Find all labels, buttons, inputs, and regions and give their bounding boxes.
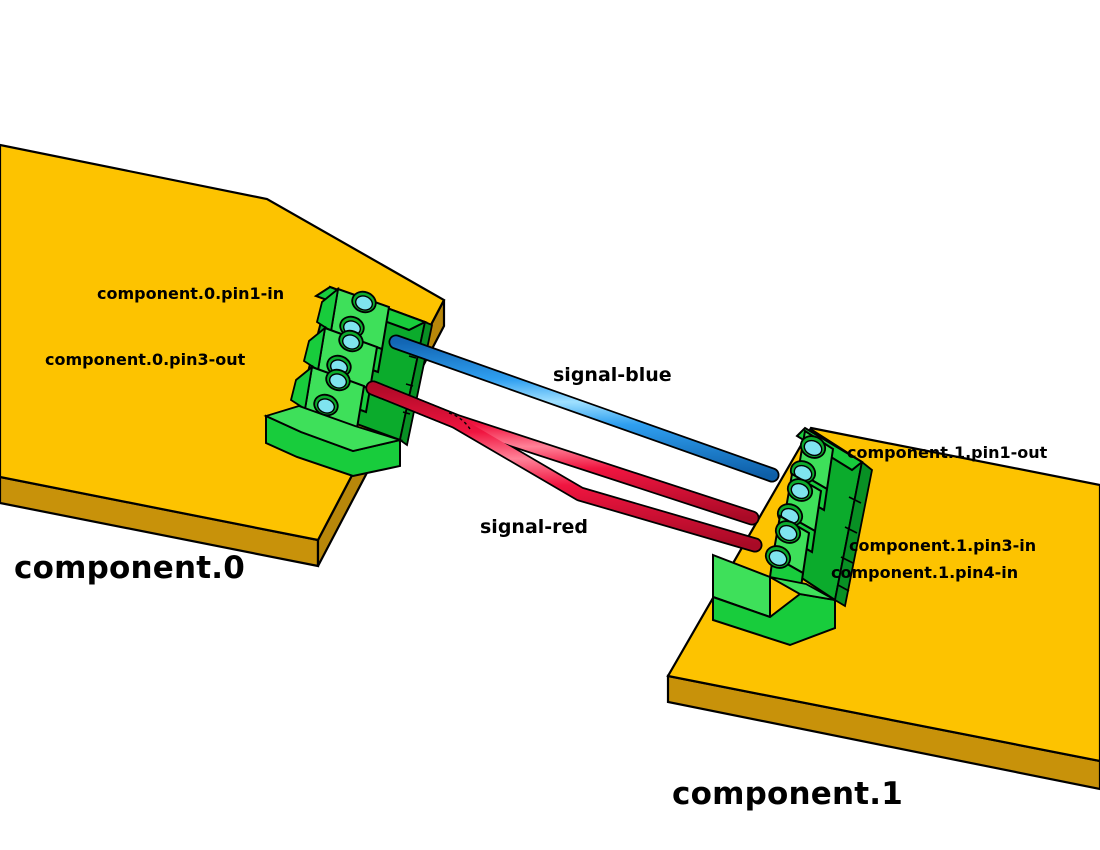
board-label-component-0: component.0	[14, 553, 245, 584]
pin-label-component-1-pin3-in: component.1.pin3-in	[849, 538, 1036, 554]
board-label-component-1: component.1	[672, 779, 903, 810]
pin-label-component-0-pin3-out: component.0.pin3-out	[45, 352, 245, 368]
pin-label-component-0-pin1-in: component.0.pin1-in	[97, 286, 284, 302]
wire-signal-blue[interactable]	[396, 342, 772, 475]
wiring-diagram-svg	[0, 0, 1100, 850]
pin-label-component-1-pin4-in: component.1.pin4-in	[831, 565, 1018, 581]
pin-label-component-1-pin1-out: component.1.pin1-out	[847, 445, 1047, 461]
wire-label-signal-blue: signal-blue	[553, 366, 672, 385]
diagram-canvas: component.0.pin1-in component.0.pin3-out…	[0, 0, 1100, 850]
signal-blue-path	[396, 342, 772, 475]
wire-label-signal-red: signal-red	[480, 518, 588, 537]
